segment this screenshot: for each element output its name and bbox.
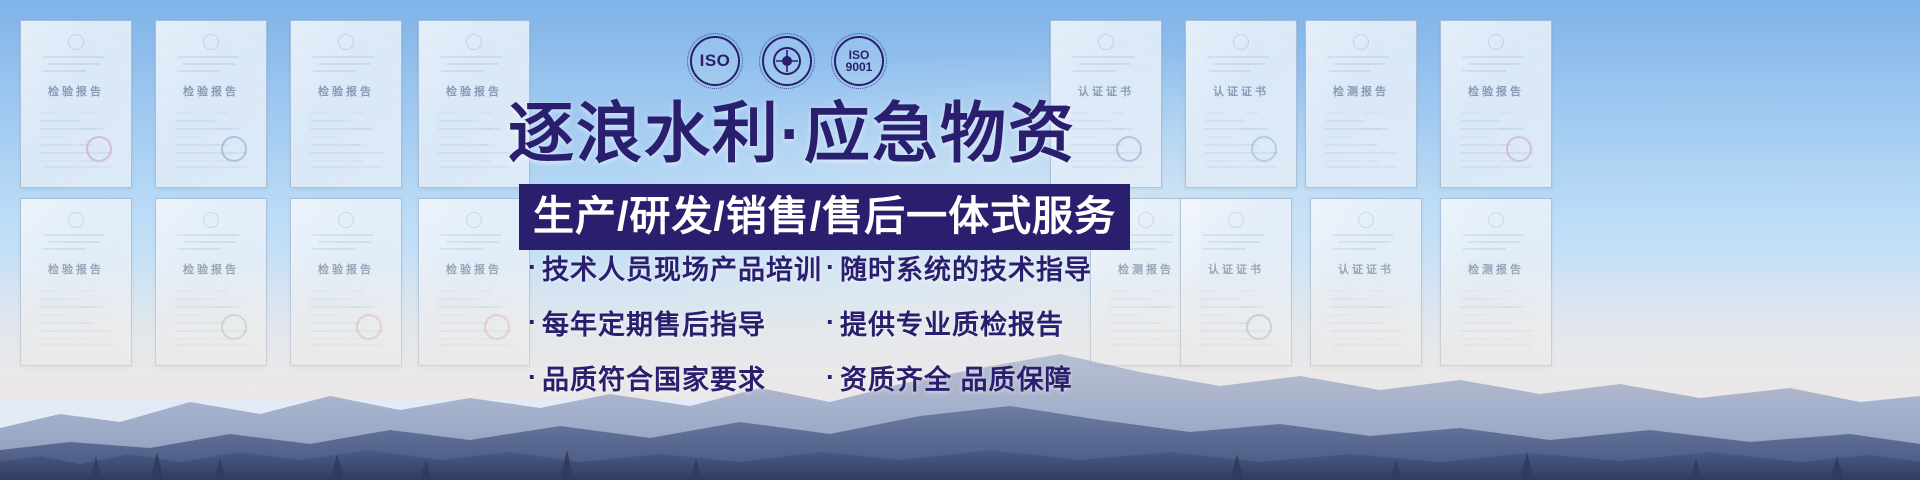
certificate-text-line <box>310 128 374 130</box>
certificate-text-line <box>40 120 81 122</box>
certificate-text-line <box>1325 144 1375 146</box>
certificate-text-line <box>40 152 113 154</box>
certificate-text-line <box>1460 120 1501 122</box>
certificate-text-line <box>1200 306 1264 308</box>
certificate-thumbnail: 检验报告 <box>155 20 267 188</box>
certificate-text-line <box>350 160 364 162</box>
certificate-footer-line <box>1327 166 1397 168</box>
certificate-text-line <box>175 298 216 300</box>
certificate-text-line <box>1325 152 1398 154</box>
certificate-text-line <box>1500 128 1514 130</box>
certificate-text-line <box>1208 241 1261 243</box>
certificate-text-line <box>40 290 58 292</box>
certificate-text-line <box>1460 290 1478 292</box>
certificate-text-line <box>1207 56 1269 58</box>
certificate-text-line <box>446 63 499 65</box>
certificate-text-line <box>1460 112 1478 114</box>
certificate-title: 检验报告 <box>318 261 374 277</box>
bullet-marker-icon: · <box>826 309 836 336</box>
certificate-text-line <box>1240 306 1254 308</box>
certificate-emblem-icon <box>1488 212 1504 228</box>
certificate-text-line <box>177 70 221 72</box>
certificate-text-line <box>1500 112 1514 114</box>
certificate-text-line <box>1245 112 1259 114</box>
certificate-title: 检测报告 <box>1333 83 1389 99</box>
certificate-text-line <box>1205 120 1246 122</box>
certificate-text-line <box>318 63 371 65</box>
certificate-text-line <box>1460 160 1496 162</box>
certificate-text-line <box>1330 298 1371 300</box>
certificate-text-line <box>438 290 456 292</box>
certificate-text-line <box>1462 56 1524 58</box>
certificate-text-line <box>1462 70 1506 72</box>
certificate-text-line <box>48 63 101 65</box>
certificate-text-line <box>310 120 351 122</box>
certificate-text-line <box>1070 144 1120 146</box>
certificate-title: 检验报告 <box>446 83 502 99</box>
certificate-text-line <box>40 298 81 300</box>
certificate-text-line <box>312 56 374 58</box>
certificate-seal-icon <box>1506 136 1532 162</box>
certificate-title: 检验报告 <box>48 261 104 277</box>
certificate-footer-line <box>1072 166 1142 168</box>
feature-label: 每年定期售后指导 <box>542 303 766 342</box>
certificate-title: 认证证书 <box>1078 83 1134 99</box>
certificate-text-line <box>1365 128 1379 130</box>
certificate-text-line <box>1072 70 1116 72</box>
certificate-text-line <box>80 160 94 162</box>
certificate-title: 检验报告 <box>1468 83 1524 99</box>
certificate-text-line <box>310 160 346 162</box>
certificate-text-line <box>40 144 90 146</box>
certificate-text-line <box>175 136 202 138</box>
certificate-text-line <box>438 160 474 162</box>
certificate-text-line <box>215 112 229 114</box>
certificate-text-line <box>1325 160 1361 162</box>
banner-subtitle-bar: 生产/研发/销售/售后一体式服务 <box>519 184 1130 250</box>
quality-seal-logo <box>762 36 812 86</box>
certificate-text-line <box>177 56 239 58</box>
certificate-emblem-icon <box>466 212 482 228</box>
certificate-footer-line <box>42 166 112 168</box>
promotional-banner: 检验报告检验报告检验报告检验报告认证证书认证证书检测报告检验报告检验报告检验报告… <box>0 0 1920 480</box>
certificate-text-line <box>1110 112 1124 114</box>
certificate-text-line <box>175 128 239 130</box>
certificate-text-line <box>478 160 492 162</box>
certificate-content: 检测报告 <box>1313 28 1409 180</box>
feature-item: · 品质符合国家要求 <box>528 358 808 397</box>
certificate-text-line <box>1205 136 1232 138</box>
certificate-text-line <box>1332 234 1394 236</box>
feature-item: · 提供专业质检报告 <box>826 303 1092 342</box>
certificate-seal-icon <box>1251 136 1277 162</box>
certificate-text-line <box>1500 160 1514 162</box>
certificate-text-line <box>438 136 465 138</box>
certificate-text-line <box>440 248 484 250</box>
certificate-text-line <box>438 120 479 122</box>
certificate-text-line <box>42 234 104 236</box>
certificate-content: 检验报告 <box>28 28 124 180</box>
certificate-thumbnail: 认证证书 <box>1185 20 1297 188</box>
certificate-text-line <box>478 290 492 292</box>
certificate-text-line <box>1200 290 1218 292</box>
certificate-content: 检验报告 <box>1448 28 1544 180</box>
certificate-text-line <box>175 290 193 292</box>
certificate-emblem-icon <box>1353 34 1369 50</box>
certificate-footer-line <box>1207 166 1277 168</box>
certificate-text-line <box>1072 56 1134 58</box>
certificate-text-line <box>1070 152 1143 154</box>
certificate-text-line <box>1327 56 1389 58</box>
certificate-text-line <box>80 306 94 308</box>
certificate-text-line <box>312 248 356 250</box>
certificate-text-line <box>438 152 511 154</box>
certificate-emblem-icon <box>466 34 482 50</box>
certificate-text-line <box>1213 63 1266 65</box>
certificate-text-line <box>1325 136 1352 138</box>
certificate-text-line <box>1110 144 1124 146</box>
certificate-text-line <box>42 70 86 72</box>
certificate-text-line <box>350 306 364 308</box>
certificate-footer-line <box>312 166 382 168</box>
certificate-content: 认证证书 <box>1193 28 1289 180</box>
certificate-text-line <box>215 144 229 146</box>
certificate-title: 检测报告 <box>1118 261 1174 277</box>
feature-label: 提供专业质检报告 <box>840 303 1064 342</box>
certificate-text-line <box>1468 63 1521 65</box>
certificate-text-line <box>478 112 492 114</box>
certificate-text-line <box>1078 63 1131 65</box>
certificate-text-line <box>1110 128 1124 130</box>
certificate-text-line <box>1460 128 1524 130</box>
certificate-text-line <box>175 112 193 114</box>
certificate-text-line <box>310 306 374 308</box>
certificate-text-line <box>1500 306 1514 308</box>
certificate-title: 检验报告 <box>318 83 374 99</box>
certificate-footer-line <box>440 166 510 168</box>
certificate-text-line <box>478 306 492 308</box>
certificate-emblem-icon <box>1233 34 1249 50</box>
certificate-title: 检验报告 <box>183 261 239 277</box>
certification-logo-row: ISO ISO 9001 <box>690 36 884 86</box>
certificate-text-line <box>1332 248 1376 250</box>
certificate-text-line <box>350 144 364 146</box>
certificate-text-line <box>438 306 502 308</box>
certificate-text-line <box>1207 70 1251 72</box>
feature-item: · 技术人员现场产品培训 <box>528 248 808 287</box>
certificate-text-line <box>1460 298 1501 300</box>
certificate-text-line <box>1205 160 1241 162</box>
certificate-text-line <box>40 136 67 138</box>
certificate-text-line <box>1500 290 1514 292</box>
certificate-text-line <box>1240 290 1254 292</box>
certificate-text-line <box>1110 160 1124 162</box>
certificate-text-line <box>42 248 86 250</box>
certificate-text-line <box>1110 306 1174 308</box>
certificate-text-line <box>438 128 502 130</box>
certificate-text-line <box>1365 160 1379 162</box>
certificate-text-line <box>175 160 211 162</box>
certificate-text-line <box>1202 248 1246 250</box>
certificate-text-line <box>1500 144 1514 146</box>
certificate-emblem-icon <box>203 34 219 50</box>
certificate-seal-icon <box>86 136 112 162</box>
certificate-text-line <box>80 290 94 292</box>
certificate-text-line <box>438 298 479 300</box>
logo-ring-decoration <box>759 33 815 89</box>
certificate-thumbnail: 检验报告 <box>1440 20 1552 188</box>
certificate-emblem-icon <box>1488 34 1504 50</box>
certificate-text-line <box>80 128 94 130</box>
certificate-text-line <box>312 234 374 236</box>
certificate-text-line <box>215 128 229 130</box>
banner-headline: 逐浪水利·应急物资 <box>508 100 1076 166</box>
certificate-title: 认证证书 <box>1213 83 1269 99</box>
certificate-text-line <box>1460 144 1510 146</box>
certificate-text-line <box>310 152 383 154</box>
certificate-seal-icon <box>1116 136 1142 162</box>
certificate-emblem-icon <box>68 34 84 50</box>
certificate-text-line <box>438 144 488 146</box>
certificate-text-line <box>183 241 236 243</box>
certificate-text-line <box>1070 128 1134 130</box>
certificate-text-line <box>310 290 328 292</box>
feature-label: 资质齐全 品质保障 <box>840 358 1073 397</box>
certificate-text-line <box>1205 152 1278 154</box>
feature-label: 技术人员现场产品培训 <box>542 248 822 287</box>
certificate-text-line <box>1333 63 1386 65</box>
certificate-text-line <box>48 241 101 243</box>
certificate-content: 检验报告 <box>163 28 259 180</box>
certificate-text-line <box>1460 136 1487 138</box>
certificate-title: 检验报告 <box>446 261 502 277</box>
logo-ring-decoration <box>831 33 887 89</box>
certificate-text-line <box>215 290 229 292</box>
certificate-text-line <box>42 56 104 58</box>
certificate-text-line <box>1245 128 1259 130</box>
feature-list: · 技术人员现场产品培训 · 随时系统的技术指导 · 每年定期售后指导 · 提供… <box>528 248 1092 397</box>
certificate-text-line <box>318 241 371 243</box>
certificate-text-line <box>1370 306 1384 308</box>
certificate-title: 检测报告 <box>1468 261 1524 277</box>
certificate-emblem-icon <box>1358 212 1374 228</box>
certificate-text-line <box>438 112 456 114</box>
feature-item: · 每年定期售后指导 <box>528 303 808 342</box>
bullet-marker-icon: · <box>826 254 836 281</box>
certificate-emblem-icon <box>203 212 219 228</box>
certificate-text-line <box>1338 241 1391 243</box>
certificate-emblem-icon <box>1228 212 1244 228</box>
certificate-text-line <box>1070 120 1111 122</box>
certificate-text-line <box>1325 112 1343 114</box>
certificate-text-line <box>80 112 94 114</box>
certificate-text-line <box>478 128 492 130</box>
certificate-text-line <box>1150 306 1164 308</box>
bullet-marker-icon: · <box>528 309 538 336</box>
certificate-text-line <box>312 70 356 72</box>
certificate-emblem-icon <box>338 34 354 50</box>
certificate-text-line <box>478 144 492 146</box>
certificate-text-line <box>1460 152 1533 154</box>
certificate-text-line <box>350 112 364 114</box>
certificate-text-line <box>1200 298 1241 300</box>
certificate-thumbnail: 检验报告 <box>20 20 132 188</box>
certificate-text-line <box>1460 306 1524 308</box>
certificate-text-line <box>215 160 229 162</box>
certificate-text-line <box>80 144 94 146</box>
certificate-text-line <box>1325 120 1366 122</box>
certificate-text-line <box>1468 241 1521 243</box>
certificate-emblem-icon <box>1138 212 1154 228</box>
feature-item: · 随时系统的技术指导 <box>826 248 1092 287</box>
certificate-text-line <box>1325 128 1389 130</box>
iso-logo: ISO <box>690 36 740 86</box>
bullet-marker-icon: · <box>826 364 836 391</box>
certificate-text-line <box>1462 234 1524 236</box>
certificate-text-line <box>1462 248 1506 250</box>
certificate-title: 检验报告 <box>48 83 104 99</box>
certificate-text-line <box>1330 306 1394 308</box>
certificate-text-line <box>177 248 221 250</box>
certificate-text-line <box>310 136 337 138</box>
certificate-text-line <box>310 298 351 300</box>
certificate-text-line <box>1202 234 1264 236</box>
certificate-text-line <box>1110 290 1128 292</box>
iso-9001-logo: ISO 9001 <box>834 36 884 86</box>
certificate-text-line <box>310 144 360 146</box>
certificate-text-line <box>350 128 364 130</box>
bullet-marker-icon: · <box>528 364 538 391</box>
certificate-text-line <box>350 290 364 292</box>
certificate-text-line <box>440 56 502 58</box>
logo-ring-decoration <box>687 33 743 89</box>
certificate-text-line <box>1365 112 1379 114</box>
certificate-text-line <box>183 63 236 65</box>
certificate-text-line <box>175 144 225 146</box>
certificate-emblem-icon <box>1098 34 1114 50</box>
feature-label: 随时系统的技术指导 <box>840 248 1092 287</box>
feature-label: 品质符合国家要求 <box>542 358 766 397</box>
certificate-thumbnail: 检测报告 <box>1305 20 1417 188</box>
certificate-text-line <box>440 234 502 236</box>
certificate-text-line <box>1245 144 1259 146</box>
certificate-emblem-icon <box>338 212 354 228</box>
certificate-text-line <box>40 160 76 162</box>
certificate-title: 认证证书 <box>1338 261 1394 277</box>
certificate-text-line <box>40 306 104 308</box>
certificate-text-line <box>1330 290 1348 292</box>
certificate-text-line <box>440 70 484 72</box>
certificate-text-line <box>1245 160 1259 162</box>
certificate-text-line <box>446 241 499 243</box>
certificate-text-line <box>215 306 229 308</box>
certificate-text-line <box>40 128 104 130</box>
certificate-title: 认证证书 <box>1208 261 1264 277</box>
certificate-text-line <box>310 112 328 114</box>
certificate-content: 检验报告 <box>298 28 394 180</box>
certificate-footer-line <box>177 166 247 168</box>
bullet-marker-icon: · <box>528 254 538 281</box>
certificate-text-line <box>1327 70 1371 72</box>
certificate-text-line <box>1205 112 1223 114</box>
feature-item: · 资质齐全 品质保障 <box>826 358 1092 397</box>
certificate-thumbnail: 检验报告 <box>290 20 402 188</box>
certificate-text-line <box>1110 298 1151 300</box>
certificate-text-line <box>1205 144 1255 146</box>
certificate-seal-icon <box>221 136 247 162</box>
certificate-text-line <box>1365 144 1379 146</box>
certificate-emblem-icon <box>68 212 84 228</box>
certificate-text-line <box>1205 128 1269 130</box>
certificate-text-line <box>40 112 58 114</box>
certificate-text-line <box>177 234 239 236</box>
certificate-footer-line <box>1462 166 1532 168</box>
certificate-title: 检验报告 <box>183 83 239 99</box>
certificate-text-line <box>1370 290 1384 292</box>
certificate-text-line <box>175 120 216 122</box>
certificate-text-line <box>1150 290 1164 292</box>
certificate-text-line <box>175 306 239 308</box>
certificate-text-line <box>175 152 248 154</box>
